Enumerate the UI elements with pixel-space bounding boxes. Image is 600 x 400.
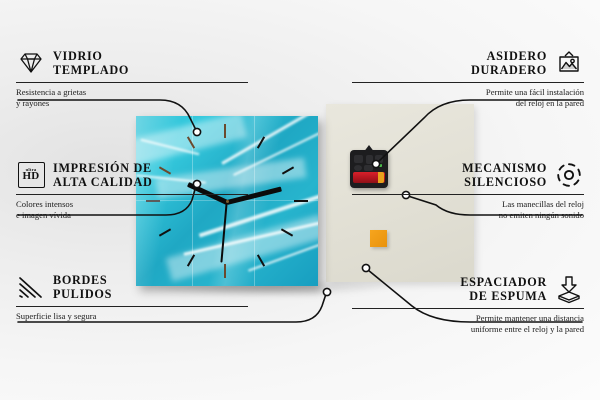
feature-title-line1: BORDES — [53, 273, 112, 287]
feature-divider — [352, 82, 584, 83]
feature-desc-line2: y rayones — [16, 98, 248, 109]
infographic-canvas: VIDRIO TEMPLADO Resistencia a grietas y … — [0, 0, 600, 400]
foam-spacer-arrow-icon — [554, 274, 584, 304]
feature-title-line1: VIDRIO — [53, 49, 129, 63]
feature-divider — [16, 306, 248, 307]
hanging-frame-icon — [554, 48, 584, 78]
polished-edges-icon — [16, 272, 46, 302]
feature-title: ASIDERO DURADERO — [471, 49, 547, 78]
feature-title: MECANISMO SILENCIOSO — [462, 161, 547, 190]
feature-desc-line2: del reloj en la pared — [352, 98, 584, 109]
foam-spacer — [370, 230, 387, 247]
feature-title: ESPACIADOR DE ESPUMA — [460, 275, 547, 304]
feature-title-line2: TEMPLADO — [53, 63, 129, 77]
gear-icon — [554, 160, 584, 190]
feature-title-line2: PULIDOS — [53, 287, 112, 301]
feature-desc-line1: Superficie lisa y segura — [16, 311, 248, 322]
clock-tick — [224, 124, 226, 138]
ultra-hd-icon-large-text: HD — [22, 171, 39, 182]
feature-divider — [16, 194, 248, 195]
feature-title: VIDRIO TEMPLADO — [53, 49, 129, 78]
feature-description: Las manecillas del reloj no emiten ningú… — [352, 199, 584, 222]
feature-asidero-duradero[interactable]: ASIDERO DURADERO Permite una fácil insta… — [352, 48, 584, 110]
feature-desc-line1: Permite una fácil instalación — [352, 87, 584, 98]
feature-vidrio-templado[interactable]: VIDRIO TEMPLADO Resistencia a grietas y … — [16, 48, 248, 110]
feature-description: Resistencia a grietas y rayones — [16, 87, 248, 110]
feature-bordes-pulidos[interactable]: BORDES PULIDOS Superficie lisa y segura — [16, 272, 248, 322]
feature-title-line1: IMPRESIÓN DE — [53, 161, 153, 175]
mechanism-hanger-nub — [363, 145, 375, 153]
feature-title-line2: DE ESPUMA — [460, 289, 547, 303]
feature-title-line1: MECANISMO — [462, 161, 547, 175]
feature-title-line2: ALTA CALIDAD — [53, 175, 153, 189]
feature-mecanismo-silencioso[interactable]: MECANISMO SILENCIOSO Las manecillas del … — [352, 160, 584, 222]
feature-desc-line1: Las manecillas del reloj — [352, 199, 584, 210]
feature-description: Superficie lisa y segura — [16, 311, 248, 322]
feature-divider — [352, 308, 584, 309]
diamond-icon — [16, 48, 46, 78]
feature-title-line2: DURADERO — [471, 63, 547, 77]
feature-espaciador-de-espuma[interactable]: ESPACIADOR DE ESPUMA Permite mantener un… — [352, 274, 584, 336]
feature-divider — [352, 194, 584, 195]
feature-title: IMPRESIÓN DE ALTA CALIDAD — [53, 161, 153, 190]
feature-description: Permite mantener una distancia uniforme … — [352, 313, 584, 336]
feature-description: Permite una fácil instalación del reloj … — [352, 87, 584, 110]
feature-title-line1: ASIDERO — [471, 49, 547, 63]
feature-desc-line2: uniforme entre el reloj y la pared — [352, 324, 584, 335]
feature-desc-line2: no emiten ningún sonido — [352, 210, 584, 221]
feature-title-line1: ESPACIADOR — [460, 275, 547, 289]
feature-desc-line1: Colores intensos — [16, 199, 248, 210]
feature-desc-line2: e imagen vívida — [16, 210, 248, 221]
clock-tick — [294, 200, 308, 202]
feature-description: Colores intensos e imagen vívida — [16, 199, 248, 222]
feature-desc-line1: Permite mantener una distancia — [352, 313, 584, 324]
feature-title-line2: SILENCIOSO — [462, 175, 547, 189]
feature-impresion-alta-calidad[interactable]: ultra HD IMPRESIÓN DE ALTA CALIDAD Color… — [16, 160, 248, 222]
feature-title: BORDES PULIDOS — [53, 273, 112, 302]
ultra-hd-icon: ultra HD — [16, 160, 46, 190]
feature-desc-line1: Resistencia a grietas — [16, 87, 248, 98]
feature-divider — [16, 82, 248, 83]
